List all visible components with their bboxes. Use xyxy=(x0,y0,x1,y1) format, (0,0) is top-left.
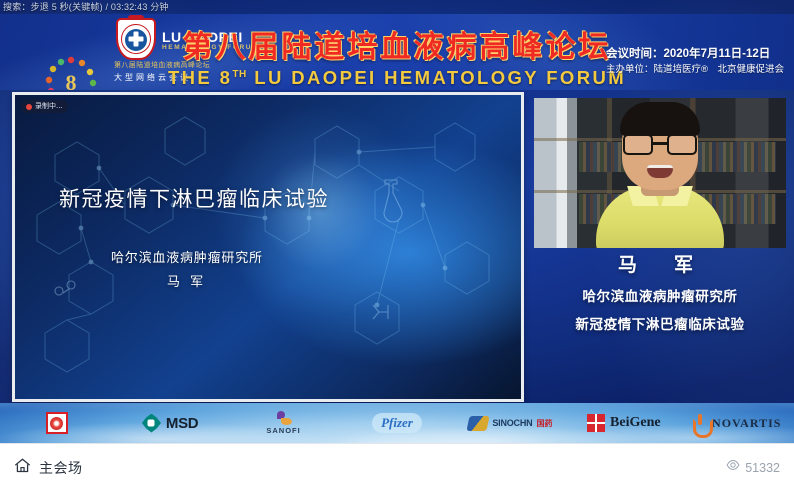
sinochn-logo-icon xyxy=(467,416,490,431)
sponsor-logo-msd: MSD xyxy=(113,403,226,443)
sponsor-name-sanofi: SANOFI xyxy=(266,426,300,435)
speaker-topic: 新冠疫情下淋巴瘤临床试验 xyxy=(534,319,786,333)
conference-meta: 会议时间：2020年7月11日-12日 主办单位：陆道培医疗® 北京健康促进会 xyxy=(606,46,784,76)
sanofi-logo-icon xyxy=(276,411,292,425)
speaker-name: 马 军 xyxy=(534,256,786,275)
sponsor-name-sinochn-cn: 国药 xyxy=(536,418,552,429)
home-icon xyxy=(14,457,31,479)
live-stream-page: 8 LU DAOPEI HEMATOLOGY FORUM 第八届陆道培血液病高峰… xyxy=(0,0,794,491)
speaker-hair xyxy=(620,102,700,136)
video-stage[interactable]: 8 LU DAOPEI HEMATOLOGY FORUM 第八届陆道培血液病高峰… xyxy=(0,0,794,443)
sponsor-name-msd: MSD xyxy=(166,415,198,432)
presentation-slide: 新冠疫情下淋巴瘤临床试验 哈尔滨血液病肿瘤研究所 马 军 录制中... xyxy=(15,95,521,399)
slide-title: 新冠疫情下淋巴瘤临床试验 xyxy=(59,183,329,213)
sponsor-logo-sanofi: SANOFI xyxy=(227,403,340,443)
red-square-target-icon xyxy=(46,412,68,434)
beigene-logo-icon xyxy=(587,414,605,432)
bottom-bar: 主会场 51332 xyxy=(0,443,794,491)
eye-icon xyxy=(726,458,740,477)
speaker-webcam[interactable] xyxy=(534,98,786,248)
molecule-hexagon-graphic xyxy=(15,95,521,399)
conference-banner: 8 LU DAOPEI HEMATOLOGY FORUM 第八届陆道培血液病高峰… xyxy=(0,14,794,90)
sponsor-name-beigene: BeiGene xyxy=(610,415,661,431)
novartis-logo-icon xyxy=(693,414,707,432)
slide-organization: 哈尔滨血液病肿瘤研究所 xyxy=(111,247,263,266)
banner-title-en-post: LU DAOPEI HEMATOLOGY FORUM xyxy=(254,67,626,88)
venue-selector[interactable]: 主会场 xyxy=(14,457,83,479)
sponsor-logo-beigene: BeiGene xyxy=(567,403,680,443)
host-unit: 主办单位：陆道培医疗® 北京健康促进会 xyxy=(606,63,784,77)
recording-label: 录制中... xyxy=(35,103,63,110)
recording-badge: 录制中... xyxy=(21,100,68,113)
banner-title-en-ordinal: TH xyxy=(232,69,246,80)
speaker-nameplate: 马 军 哈尔滨血液病肿瘤研究所 新冠疫情下淋巴瘤临床试验 xyxy=(534,252,786,348)
sponsor-logo-novartis: NOVARTIS xyxy=(681,403,794,443)
venue-label: 主会场 xyxy=(39,458,83,478)
sponsor-strip: MSD SANOFI Pfizer SINOCHN 国药 xyxy=(0,403,794,443)
slide-speaker-name: 马 军 xyxy=(167,271,206,290)
sponsor-logo-pfizer: Pfizer xyxy=(340,403,453,443)
sponsor-name-sinochn: SINOCHN xyxy=(492,418,532,428)
viewer-count: 51332 xyxy=(745,461,780,475)
recording-dot-icon xyxy=(26,104,32,110)
viewer-count-group: 51332 xyxy=(726,458,780,477)
speaker-organization: 哈尔滨血液病肿瘤研究所 xyxy=(534,291,786,305)
sponsor-logo-sinochn: SINOCHN 国药 xyxy=(454,403,567,443)
sponsor-name-novartis: NOVARTIS xyxy=(712,416,781,431)
pfizer-logo-icon: Pfizer xyxy=(372,413,422,433)
sponsor-logo-1 xyxy=(0,403,113,443)
banner-title-en-pre: THE 8 xyxy=(168,67,232,88)
msd-logo-icon xyxy=(142,414,161,433)
presentation-slide-frame[interactable]: 新冠疫情下淋巴瘤临床试验 哈尔滨血液病肿瘤研究所 马 军 录制中... xyxy=(12,92,524,402)
glasses-icon xyxy=(623,134,697,156)
speaker-mouth xyxy=(647,165,673,178)
meeting-time: 会议时间：2020年7月11日-12日 xyxy=(606,46,784,63)
